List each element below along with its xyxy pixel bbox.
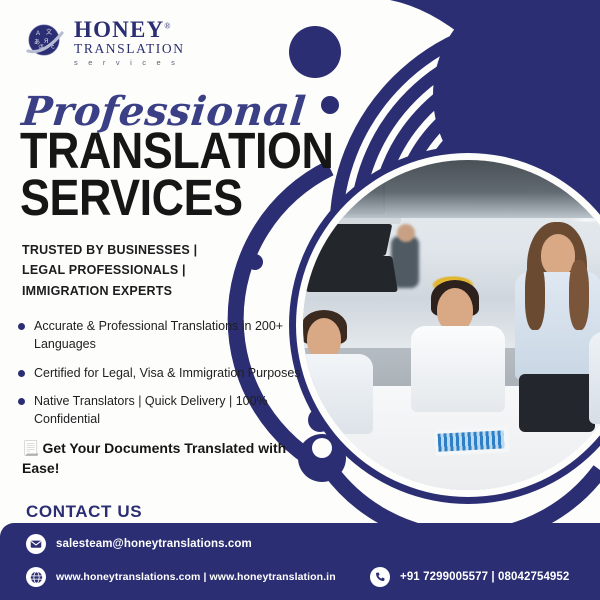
list-item: Native Translators | Quick Delivery | 10… [18,393,308,429]
call-to-action: 📃Get Your Documents Translated with Ease… [22,438,302,479]
photo-woman-skirt [519,374,595,432]
contact-email-text: salesteam@honeytranslations.com [56,538,252,550]
document-page-icon: 📃 [22,440,39,456]
svg-text:Я: Я [44,39,48,45]
poster-canvas: A文 あЯ ع语 HONEY® TRANSLATION s e r v i c … [0,0,600,600]
team-photo [303,160,600,490]
photo-background-person-head [397,224,415,242]
photo-laptop-left [303,224,392,256]
brand-logo-text: HONEY® TRANSLATION s e r v i c e s [74,18,185,66]
features-list: Accurate & Professional Translations in … [18,318,308,440]
contact-heading: CONTACT US [26,502,142,522]
svg-text:文: 文 [46,28,52,36]
brand-line2: TRANSLATION [74,42,185,56]
trusted-line-1: TRUSTED BY BUSINESSES | [22,240,197,260]
contact-website-row[interactable]: www.honeytranslations.com | www.honeytra… [26,567,336,587]
contact-phone-row[interactable]: +91 7299005577 | 08042754952 [370,567,569,587]
page-title: TRANSLATION SERVICES [20,128,333,222]
contact-panel: salesteam@honeytranslations.com www.hone… [0,523,600,600]
photo-man-center-shirt [411,326,505,412]
photo-woman-hair-left [525,260,545,330]
brand-line3: s e r v i c e s [74,59,185,67]
list-item-label: Native Translators | Quick Delivery | 10… [34,393,308,429]
photo-laptop-right [303,256,398,292]
contact-website-text: www.honeytranslations.com | www.honeytra… [56,571,336,583]
bullet-dot-icon [18,370,25,377]
contact-phone-text: +91 7299005577 | 08042754952 [400,571,569,583]
svg-text:A: A [36,31,40,37]
globe-icon: A文 あЯ ع语 [24,21,66,63]
bullet-dot-icon [18,323,25,330]
photo-document [434,426,509,456]
globe-icon [26,567,46,587]
photo-woman-hair-right [569,260,589,330]
navy-dot-small [321,96,339,114]
trusted-line-3: IMMIGRATION EXPERTS [22,281,197,301]
list-item-label: Accurate & Professional Translations in … [34,318,308,354]
list-item: Accurate & Professional Translations in … [18,318,308,354]
headline-line-2: SERVICES [20,175,333,222]
photo-man-left-shirt [303,354,373,434]
registered-mark: ® [164,21,171,30]
photo-ceiling [303,160,600,218]
list-item-label: Certified for Legal, Visa & Immigration … [34,365,301,383]
bullet-dot-icon [18,398,25,405]
call-to-action-text: Get Your Documents Translated with Ease! [22,440,286,476]
svg-text:あ: あ [34,39,40,46]
contact-email-row[interactable]: salesteam@honeytranslations.com [26,534,252,554]
brand-logo[interactable]: A文 あЯ ع语 HONEY® TRANSLATION s e r v i c … [24,18,185,66]
navy-dot-mid [247,254,263,270]
trusted-by-block: TRUSTED BY BUSINESSES | LEGAL PROFESSION… [22,240,197,301]
photo-document-chart [438,430,505,451]
photo-man-right-shirt [589,332,600,424]
headline-line-1: TRANSLATION [20,128,333,175]
envelope-icon [26,534,46,554]
list-item: Certified for Legal, Visa & Immigration … [18,365,308,383]
brand-name-text: HONEY [74,17,164,42]
navy-dot-large [289,26,341,78]
team-photo-image [303,160,600,490]
trusted-line-2: LEGAL PROFESSIONALS | [22,260,197,280]
brand-name: HONEY® [74,18,172,41]
phone-icon [370,567,390,587]
